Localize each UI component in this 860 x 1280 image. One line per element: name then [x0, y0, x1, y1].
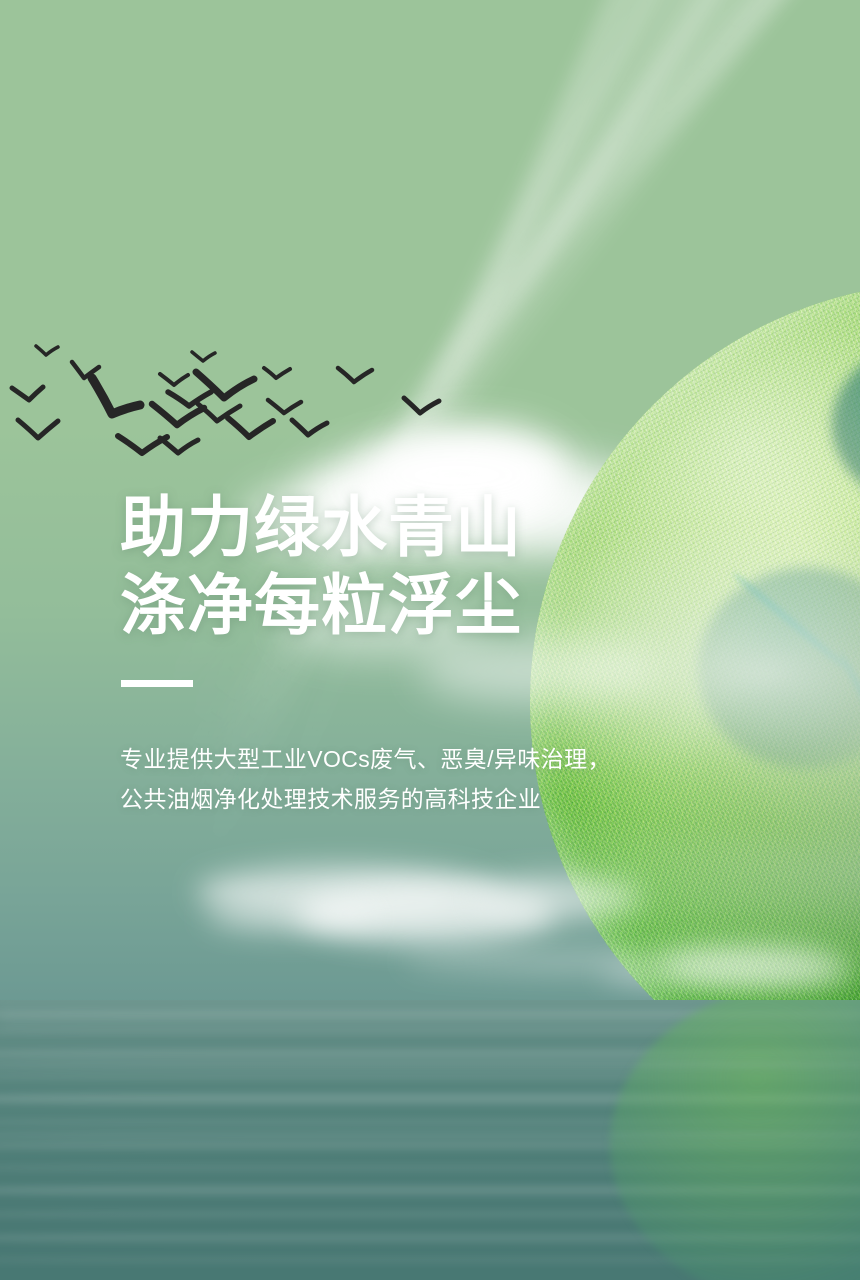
divider-rule — [121, 680, 193, 687]
headline-line-2: 涤净每粒浮尘 — [120, 566, 740, 644]
hero-copy-block: 助力绿水青山 涤净每粒浮尘 专业提供大型工业VOCs废气、恶臭/异味治理， 公共… — [120, 488, 740, 819]
subcopy-line-2: 公共油烟净化处理技术服务的高科技企业 — [120, 779, 740, 819]
headline-line-1: 助力绿水青山 — [120, 488, 740, 566]
eco-promo-poster: 助力绿水青山 涤净每粒浮尘 专业提供大型工业VOCs废气、恶臭/异味治理， 公共… — [0, 0, 860, 1280]
water-ripples-icon — [0, 1000, 860, 1280]
globe-reflection — [610, 1000, 860, 1280]
subcopy-line-1: 专业提供大型工业VOCs废气、恶臭/异味治理， — [120, 739, 740, 779]
flying-birds-flock-icon — [0, 0, 860, 520]
